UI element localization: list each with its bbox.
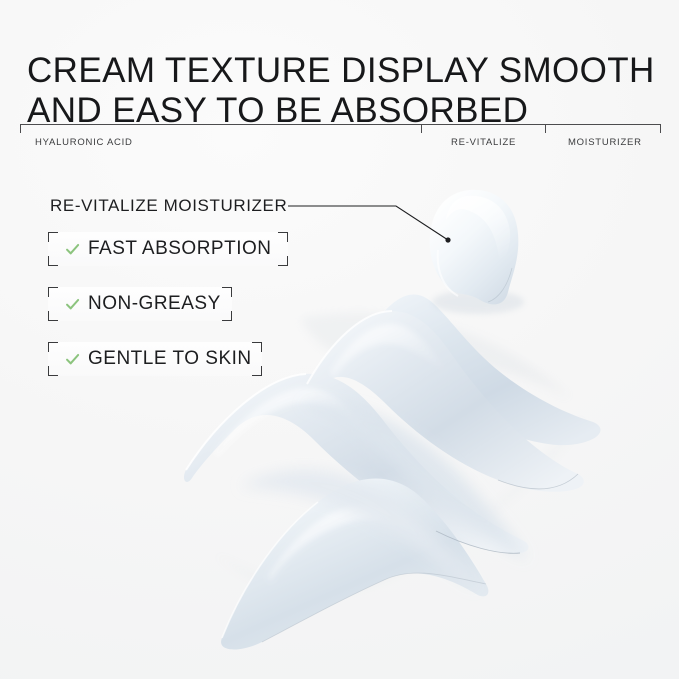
corner-bracket-bottom-left — [48, 256, 58, 266]
corner-bracket-bottom-left — [48, 366, 58, 376]
cream-dollop — [430, 190, 524, 314]
check-icon — [65, 297, 80, 312]
cream-swoosh-blade-mid — [184, 374, 529, 553]
corner-bracket-bottom-left — [48, 311, 58, 321]
rule-label-re-vitalize: RE-VITALIZE — [451, 137, 516, 148]
page-title: CREAM TEXTURE DISPLAY SMOOTH AND EASY TO… — [27, 51, 657, 131]
feature-label: GENTLE TO SKIN — [88, 349, 252, 369]
rule-line — [20, 124, 661, 125]
feature-item-fast-absorption[interactable]: FAST ABSORPTION — [48, 232, 288, 266]
corner-bracket-top-right — [252, 342, 262, 352]
cream-swoosh-upper — [374, 294, 601, 445]
rule-label-moisturizer: MOISTURIZER — [568, 137, 642, 148]
callout-title: RE-VITALIZE MOISTURIZER — [50, 196, 287, 216]
rule-tick-end — [660, 124, 661, 133]
ingredient-rule: HYALURONIC ACID RE-VITALIZE MOISTURIZER — [20, 124, 661, 154]
feature-item-non-greasy[interactable]: NON-GREASY — [48, 287, 232, 321]
corner-bracket-top-right — [278, 232, 288, 242]
rule-tick-1 — [421, 124, 422, 133]
rule-tick-2 — [545, 124, 546, 133]
cream-swoosh-blade-low-sheen — [268, 504, 430, 582]
poster-canvas: CREAM TEXTURE DISPLAY SMOOTH AND EASY TO… — [0, 0, 679, 679]
cream-swoosh-blade-low — [221, 478, 488, 649]
corner-bracket-top-left — [48, 287, 58, 297]
cream-swoosh-blade-top-sheen — [330, 324, 446, 378]
corner-bracket-top-left — [48, 232, 58, 242]
corner-bracket-bottom-right — [222, 311, 232, 321]
feature-label: NON-GREASY — [88, 294, 221, 314]
corner-bracket-top-left — [48, 342, 58, 352]
corner-bracket-top-right — [222, 287, 232, 297]
rule-label-hyaluronic-acid: HYALURONIC ACID — [35, 137, 133, 148]
rule-tick-start — [20, 124, 21, 133]
check-icon — [65, 242, 80, 257]
cream-swoosh-blade-mid-sheen — [214, 388, 370, 458]
corner-bracket-bottom-right — [278, 256, 288, 266]
feature-label: FAST ABSORPTION — [88, 239, 271, 259]
callout-target-dot — [445, 237, 450, 242]
corner-bracket-bottom-right — [252, 366, 262, 376]
check-icon — [65, 352, 80, 367]
cream-swoosh-blade-top — [306, 311, 584, 492]
feature-item-gentle-to-skin[interactable]: GENTLE TO SKIN — [48, 342, 262, 376]
